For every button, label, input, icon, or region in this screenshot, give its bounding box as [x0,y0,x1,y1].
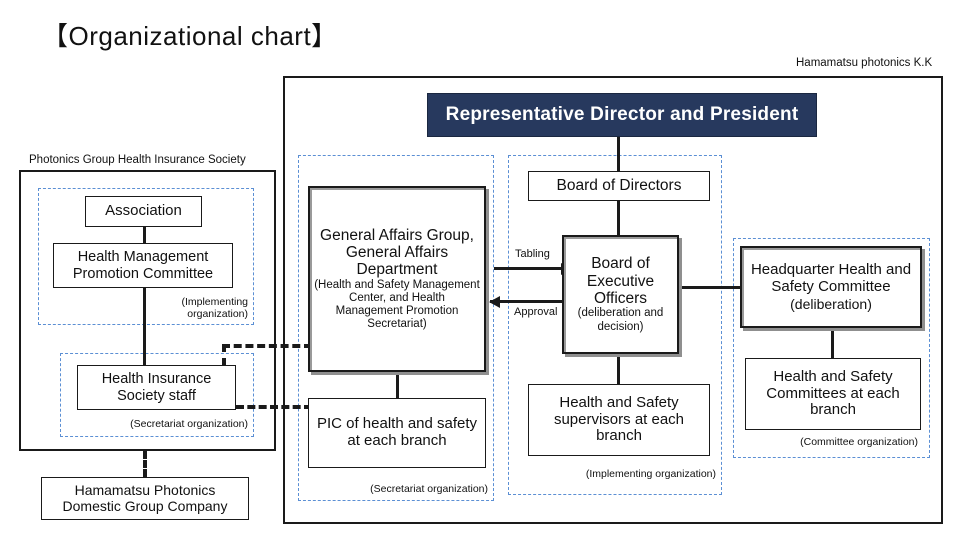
node-hq-committee-label: Headquarter Health and Safety Committee [746,262,916,296]
node-insurance-staff-label: Health Insurance Society staff [82,371,231,403]
node-hq-committee-sub: (deliberation) [790,296,872,312]
node-pic-branch-label: PIC of health and safety at each branch [313,416,481,450]
connector-president-to-board [617,137,620,171]
group-committee-note: (Committee organization) [748,436,918,448]
node-board-exec-officers[interactable]: Board of Executive Officers (deliberatio… [562,235,679,354]
arrow-approval-label: Approval [513,306,558,318]
node-hs-supervisors-label: Health and Safety supervisors at each br… [533,395,705,445]
node-branch-committees-label: Health and Safety Committees at each bra… [750,369,916,419]
node-health-management-committee[interactable]: Health Management Promotion Committee [53,243,233,288]
node-president[interactable]: Representative Director and President [427,93,817,137]
node-association-label: Association [105,203,182,220]
group-ga-secretariat-note: (Secretariat organization) [330,483,488,495]
group-insurance-secretariat-note: (Secretariat organization) [68,418,248,430]
connector-hq-to-branch-committees [831,328,834,358]
node-board-of-directors-label: Board of Directors [557,177,682,194]
connector-committee-to-staff [143,288,146,365]
connector-dash-upper-horizontal [222,344,312,348]
node-domestic-group-label: Hamamatsu Photonics Domestic Group Compa… [46,483,244,514]
node-board-exec-officers-label: Board of Executive Officers [568,255,673,307]
page-title: 【Organizational chart】 [42,16,338,53]
group-insurance-implementing-note: (Implementing organization) [150,296,248,320]
node-hq-committee[interactable]: Headquarter Health and Safety Committee … [740,246,922,328]
node-general-affairs-label: General Affairs Group, General Affairs D… [314,227,480,279]
connector-ga-to-pic [396,372,399,398]
arrow-tabling-label: Tabling [514,248,551,260]
node-board-of-directors[interactable]: Board of Directors [528,171,710,201]
node-association[interactable]: Association [85,196,202,227]
connector-exec-to-supervisors [617,354,620,384]
company-frame-label: Hamamatsu photonics K.K [796,58,932,70]
group-exec-implementing-note: (Implementing organization) [540,468,716,480]
insurance-frame-label: Photonics Group Health Insurance Society [29,155,246,167]
node-board-exec-officers-sub: (deliberation and decision) [568,307,673,333]
arrow-tabling [494,267,571,270]
connector-association-to-committee [143,227,146,243]
arrow-approval [490,300,571,303]
node-hs-supervisors[interactable]: Health and Safety supervisors at each br… [528,384,710,456]
node-branch-committees[interactable]: Health and Safety Committees at each bra… [745,358,921,430]
node-general-affairs-sub: (Health and Safety Management Center, an… [314,279,480,332]
node-health-management-committee-label: Health Management Promotion Committee [58,249,228,281]
connector-dash-lower-horizontal [236,405,312,409]
organizational-chart-canvas: 【Organizational chart】 Hamamatsu photoni… [0,0,960,540]
connector-insurance-to-domestic [143,451,147,477]
node-president-label: Representative Director and President [446,104,799,125]
node-insurance-staff[interactable]: Health Insurance Society staff [77,365,236,410]
connector-board-to-exec [617,201,620,235]
node-general-affairs[interactable]: General Affairs Group, General Affairs D… [308,186,486,372]
node-pic-branch[interactable]: PIC of health and safety at each branch [308,398,486,468]
node-domestic-group[interactable]: Hamamatsu Photonics Domestic Group Compa… [41,477,249,520]
